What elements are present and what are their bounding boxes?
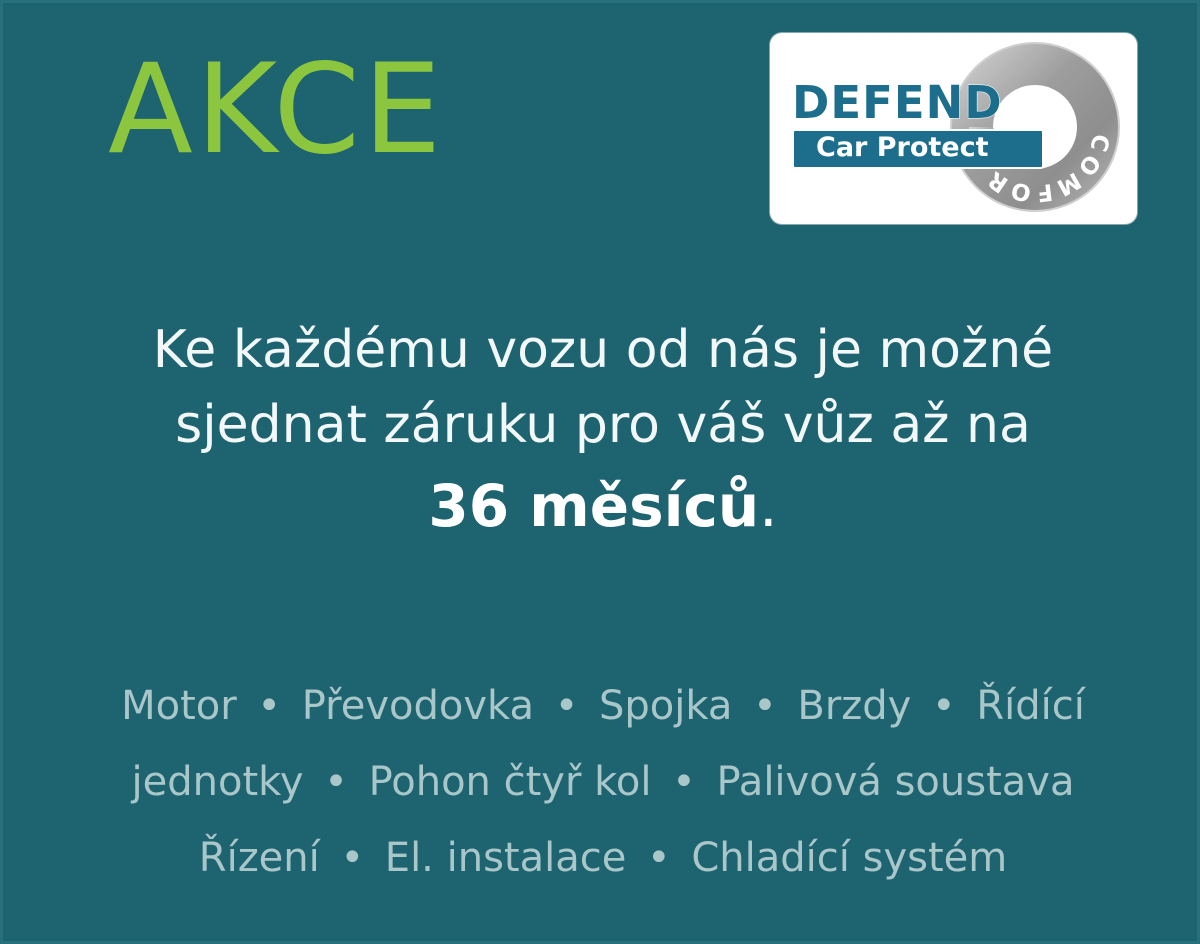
coverage-item: El. instalace — [385, 835, 627, 881]
coverage-separator: • — [304, 759, 369, 805]
defend-logo-card: COMFORT DEFEND Car Protect — [770, 33, 1137, 224]
car-protect-bar: Car Protect — [792, 129, 1044, 169]
coverage-item: jednotky — [132, 759, 304, 805]
coverage-item: Řídící — [976, 683, 1085, 729]
coverage-item: Pohon čtyř kol — [369, 759, 652, 805]
emphasis-period: . — [759, 472, 777, 540]
coverage-item: Brzdy — [797, 683, 911, 729]
coverage-item: Převodovka — [302, 683, 534, 729]
page-title: AKCE — [108, 48, 444, 172]
defend-brand-text: DEFEND — [792, 81, 1042, 125]
coverage-separator: • — [237, 683, 302, 729]
coverage-item: Palivová soustava — [716, 759, 1074, 805]
coverage-separator: • — [732, 683, 797, 729]
coverage-separator: • — [911, 683, 976, 729]
coverage-separator: • — [534, 683, 599, 729]
promo-banner: AKCE — [0, 0, 1200, 944]
promo-body: Ke každému vozu od nás je možné sjednat … — [3, 313, 1200, 544]
promo-line-2: sjednat záruku pro váš vůz až na — [3, 388, 1200, 463]
coverage-row: Motor • Převodovka • Spojka • Brzdy • Ří… — [3, 668, 1200, 744]
coverage-separator: • — [320, 835, 385, 881]
banner-header: AKCE — [3, 3, 1200, 253]
coverage-list: Motor • Převodovka • Spojka • Brzdy • Ří… — [3, 668, 1200, 896]
coverage-item: Motor — [121, 683, 237, 729]
logo-inner: COMFORT DEFEND Car Protect — [770, 33, 1137, 224]
defend-wordmark: DEFEND Car Protect — [792, 81, 1042, 169]
car-protect-text: Car Protect — [816, 134, 1032, 162]
coverage-item: Spojka — [599, 683, 732, 729]
coverage-separator: • — [651, 759, 716, 805]
coverage-separator: • — [626, 835, 691, 881]
warranty-duration: 36 měsíců — [428, 472, 759, 540]
promo-line-1: Ke každému vozu od nás je možné — [3, 313, 1200, 388]
promo-emphasis: 36 měsíců. — [3, 469, 1200, 544]
coverage-row: Řízení • El. instalace • Chladící systém — [3, 820, 1200, 896]
coverage-row: jednotky • Pohon čtyř kol • Palivová sou… — [3, 744, 1200, 820]
coverage-item: Chladící systém — [691, 835, 1007, 881]
coverage-item: Řízení — [199, 835, 320, 881]
